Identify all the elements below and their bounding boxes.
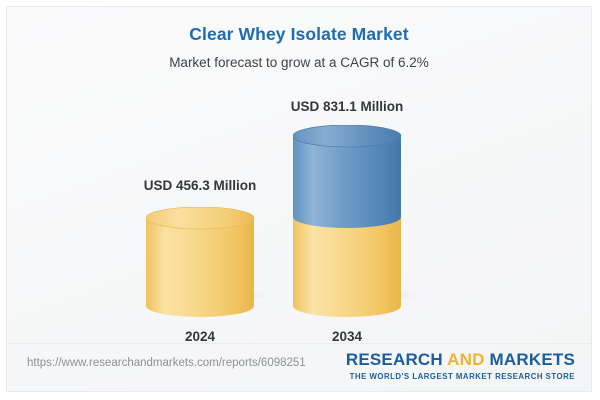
chart-header: Clear Whey Isolate Market Market forecas…	[7, 7, 591, 70]
chart-plot-area: USD 456.3 Million	[7, 89, 592, 344]
logo-text-research: RESEARCH	[346, 350, 447, 369]
bar-group-2024: USD 456.3 Million	[120, 89, 280, 344]
logo-text-markets: MARKETS	[485, 350, 575, 369]
bar-category-label-2024: 2024	[120, 329, 280, 344]
chart-footer: https://www.researchandmarkets.com/repor…	[7, 343, 592, 391]
bar-value-label-2024: USD 456.3 Million	[120, 178, 280, 193]
bar-category-label-2034: 2034	[267, 329, 427, 344]
logo-text-and: AND	[447, 350, 484, 369]
chart-card: Clear Whey Isolate Market Market forecas…	[6, 6, 592, 392]
page-title: Clear Whey Isolate Market	[7, 7, 591, 45]
logo-wordmark: RESEARCH AND MARKETS	[346, 350, 575, 370]
logo-tagline: THE WORLD'S LARGEST MARKET RESEARCH STOR…	[346, 370, 575, 381]
bar-value-label-2034: USD 831.1 Million	[267, 99, 427, 114]
source-url-link[interactable]: https://www.researchandmarkets.com/repor…	[27, 357, 306, 369]
bar-group-2034: USD 831.1 Million	[267, 89, 427, 344]
bar-cylinder-2034[interactable]	[293, 125, 401, 317]
bar-cylinder-2024[interactable]	[146, 207, 254, 317]
chart-subtitle: Market forecast to grow at a CAGR of 6.2…	[7, 45, 591, 70]
brand-logo[interactable]: RESEARCH AND MARKETS THE WORLD'S LARGEST…	[346, 350, 575, 381]
